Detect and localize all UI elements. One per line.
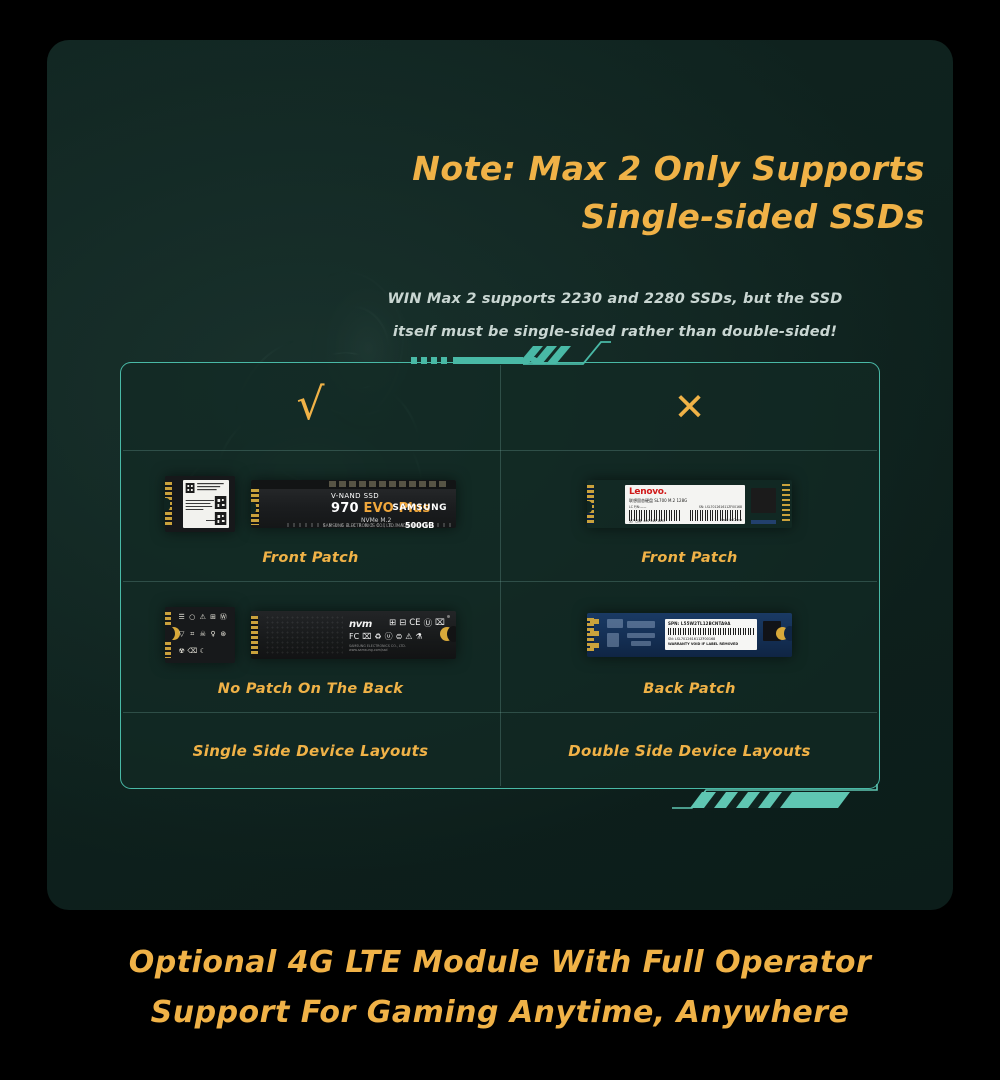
ssd-label-model-line: 联想固态硬盘 SL700 M.2 128G: [629, 498, 687, 504]
ssd-label: [183, 480, 229, 528]
cert-row-2: FC ⌧ ♻ ⓤ ⊜ ⚠ ⚗: [349, 631, 423, 642]
symbol: ♀: [211, 631, 216, 638]
nvm-logo-icon: nvm: [349, 619, 372, 630]
gold-contacts: [251, 616, 258, 655]
symbol: ⊛: [220, 631, 226, 638]
ssd-label-line-1: V-NAND SSD: [331, 492, 379, 500]
pcb-trace: [751, 520, 776, 524]
pcb-chips: [329, 481, 446, 487]
symbol: ☰: [178, 614, 184, 621]
label-spn: SPN: L55W2TL12BCNTA9A: [668, 621, 731, 626]
key-notch: [251, 502, 256, 514]
cross-mark-icon: ✕: [674, 387, 706, 427]
title-line-2: Single-sided SSDs: [305, 193, 925, 241]
ssd-image-group-single-back: ☰ ○ ⚠ ⊞ Ⓦ ▽ ⌗ ☠ ♀ ⊛: [165, 599, 456, 671]
cert-symbol: CE: [409, 618, 420, 628]
subtitle-line-1: WIN Max 2 supports 2230 and 2280 SSDs, b…: [305, 283, 925, 316]
cert-symbol: ⌧: [362, 632, 371, 641]
symbol: ○: [189, 614, 195, 621]
barcode-caption-left: LC P/N:——: [629, 505, 646, 509]
ssd-model-number: 970: [331, 501, 359, 516]
label-footer-right: Made in China: [720, 518, 742, 523]
cell-footer-double: Double Side Device Layouts: [500, 713, 879, 789]
row-caption-right: Front Patch: [641, 550, 737, 566]
ssd-label: nvm ⊞ ⊟ CE Ⓤ ⌧ FC: [347, 616, 444, 655]
cert-symbol: ⚠: [405, 632, 412, 641]
ssd-image-group-double-back: SPN: L55W2TL12BCNTA9A SN: LSL701261611ZF…: [587, 599, 792, 671]
page-root: Note: Max 2 Only Supports Single-sided S…: [0, 0, 1000, 1080]
ssd-samsung-back-image: nvm ⊞ ⊟ CE Ⓤ ⌧ FC: [251, 611, 456, 659]
cert-symbol: ⌧: [435, 618, 445, 628]
symbol: ☾: [200, 648, 206, 655]
page-title: Note: Max 2 Only Supports Single-sided S…: [305, 145, 925, 241]
label-footer-left: 生产日期: 400 540 1895: [629, 518, 665, 523]
pcb-pad: [590, 643, 599, 648]
cert-symbol: ⚗: [415, 632, 422, 641]
ssd-2230-front-image: [165, 476, 235, 532]
column-header-double: ✕: [500, 363, 879, 450]
subtitle-line-2: itself must be single-sided rather than …: [305, 316, 925, 349]
ssd-label-footer: 生产日期: 400 540 1895 Made in China: [629, 518, 742, 523]
title-line-1: Note: Max 2 Only Supports: [305, 145, 925, 193]
pcb-component: [627, 633, 655, 638]
ssd-2230-back-image: ☰ ○ ⚠ ⊞ Ⓦ ▽ ⌗ ☠ ♀ ⊛: [165, 607, 235, 663]
cert-symbol: FC: [349, 632, 359, 641]
symbol: ▽: [179, 631, 184, 638]
cert-symbol: ⊞: [389, 618, 396, 628]
footer-line-2: Support For Gaming Anytime, Anywhere: [0, 988, 1000, 1038]
ssd-label: SPN: L55W2TL12BCNTA9A SN: LSL701261611ZF…: [665, 619, 757, 650]
label-warranty: WARRANTY VOID IF LABEL REMOVED: [668, 642, 738, 646]
ssd-lenovo-back-image: SPN: L55W2TL12BCNTA9A SN: LSL701261611ZF…: [587, 613, 792, 657]
feature-card: Note: Max 2 Only Supports Single-sided S…: [47, 40, 953, 910]
ssd-image-group-single-front: V-NAND SSD 970 EVO Plus NVMe M.2 SAMSUNG…: [165, 468, 456, 540]
pcb-pad: [590, 619, 599, 624]
pcb-pads: [782, 484, 790, 524]
ssd-brand: SAMSUNG: [392, 503, 447, 513]
cell-footer-single: Single Side Device Layouts: [121, 713, 500, 789]
ssd-samsung-970-evo-plus-front-image: V-NAND SSD 970 EVO Plus NVMe M.2 SAMSUNG…: [251, 480, 456, 528]
symbol: Ⓦ: [220, 614, 227, 621]
cell-double-front: Lenovo. 联想固态硬盘 SL700 M.2 128G LC P/N:—— …: [500, 451, 879, 582]
cert-symbol: ⊟: [399, 618, 406, 628]
nand-chip: [751, 488, 776, 513]
pcb-pad: [590, 631, 599, 636]
cert-row-1: ⊞ ⊟ CE Ⓤ ⌧: [389, 617, 445, 629]
barcode: [668, 628, 754, 635]
key-notch: [164, 498, 170, 511]
ssd-label-barcode-captions: LC P/N:—— SN: LSL701261611ZF00168: [629, 505, 742, 509]
cert-symbol: ⊜: [396, 632, 403, 641]
row-caption-right: Back Patch: [643, 681, 735, 697]
row-caption-left: Front Patch: [262, 550, 358, 566]
label-bottom-pattern: [287, 523, 452, 527]
symbol: ⊞: [210, 614, 216, 621]
ssd-label: V-NAND SSD 970 EVO Plus NVMe M.2 SAMSUNG…: [287, 490, 452, 524]
cell-single-back: ☰ ○ ⚠ ⊞ Ⓦ ▽ ⌗ ☠ ♀ ⊛: [121, 582, 500, 713]
cell-single-front: V-NAND SSD 970 EVO Plus NVMe M.2 SAMSUNG…: [121, 451, 500, 582]
ssd-label: Lenovo. 联想固态硬盘 SL700 M.2 128G LC P/N:—— …: [625, 485, 745, 524]
pcb-component: [607, 619, 623, 628]
cert-symbol: ♻: [374, 632, 381, 641]
symbol: ☠: [200, 631, 206, 638]
table-header-row: √ ✕: [121, 363, 879, 450]
pcb-component: [631, 641, 651, 646]
mounting-pad-cut: [784, 626, 792, 641]
label-sn: SN: LSL701261611ZF00168: [668, 637, 715, 641]
mounting-pad-cut: [165, 626, 175, 641]
pcb-component: [607, 633, 619, 647]
table-footer-row: Single Side Device Layouts Double Side D…: [121, 713, 879, 789]
pcb-texture: [265, 615, 343, 654]
cert-symbol: ⓤ: [385, 631, 393, 642]
ssd-lenovo-front-image: Lenovo. 联想固态硬盘 SL700 M.2 128G LC P/N:—— …: [587, 480, 792, 528]
footer-label-double: Double Side Device Layouts: [568, 742, 811, 760]
footer-line-1: Optional 4G LTE Module With Full Operato…: [0, 938, 1000, 988]
symbol: ⌫: [187, 648, 197, 655]
cert-symbol: Ⓤ: [424, 617, 433, 629]
symbol: ☢: [178, 648, 184, 655]
column-header-single: √: [121, 363, 500, 450]
marketing-footer: Optional 4G LTE Module With Full Operato…: [0, 938, 1000, 1038]
symbol: ⌗: [190, 631, 194, 638]
mounting-pad-cut: [447, 626, 456, 642]
footer-label-single: Single Side Device Layouts: [193, 742, 429, 760]
page-subtitle: WIN Max 2 supports 2230 and 2280 SSDs, b…: [305, 283, 925, 349]
key-notch: [587, 501, 592, 513]
check-mark-icon: √: [296, 385, 324, 425]
comparison-panel: √ ✕: [120, 362, 880, 789]
cell-double-back: SPN: L55W2TL12BCNTA9A SN: LSL701261611ZF…: [500, 582, 879, 713]
ssd-brand: Lenovo.: [629, 487, 667, 497]
pcb-component: [627, 621, 655, 628]
certification-symbols: ☰ ○ ⚠ ⊞ Ⓦ ▽ ⌗ ☠ ♀ ⊛: [177, 610, 228, 660]
barcode-caption-right: SN: LSL701261611ZF00168: [699, 505, 742, 509]
symbol: ⚠: [200, 614, 206, 621]
table-row: V-NAND SSD 970 EVO Plus NVMe M.2 SAMSUNG…: [121, 451, 879, 582]
row-caption-left: No Patch On The Back: [218, 681, 403, 697]
ssd-fineprint: SAMSUNG ELECTRONICS CO., LTD. www.samsun…: [349, 644, 444, 652]
ssd-image-group-double-front: Lenovo. 联想固态硬盘 SL700 M.2 128G LC P/N:—— …: [587, 468, 792, 540]
pcb-dot: [447, 615, 450, 618]
table-row: ☰ ○ ⚠ ⊞ Ⓦ ▽ ⌗ ☠ ♀ ⊛: [121, 582, 879, 713]
